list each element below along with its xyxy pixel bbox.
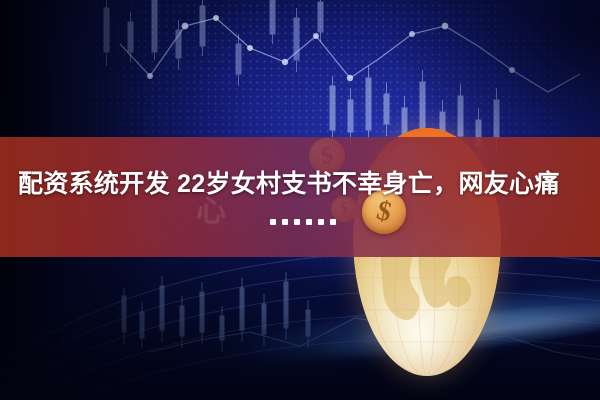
- arc-lines-lower: [0, 251, 600, 400]
- line-chart-upper: [120, 18, 580, 92]
- banner-image-canvas: $ $ $ 心 $ 配资系统开发 22岁女村支书不幸身亡，网友心痛: [0, 0, 600, 400]
- ellipsis-dot: [294, 219, 300, 225]
- page-title: 配资系统开发 22岁女村支书不幸身亡，网友心痛: [18, 168, 588, 200]
- ellipsis-dot: [270, 219, 276, 225]
- candlestick-bars-upper: [104, 0, 323, 86]
- line-chart-upper-nodes: [147, 15, 515, 81]
- ellipsis-dot: [330, 219, 336, 225]
- ellipsis-dot: [282, 219, 288, 225]
- ellipsis-dot: [306, 219, 312, 225]
- candlestick-bars-lower: [122, 272, 310, 352]
- ellipsis-dot: [318, 219, 324, 225]
- title-ellipsis: [270, 219, 336, 225]
